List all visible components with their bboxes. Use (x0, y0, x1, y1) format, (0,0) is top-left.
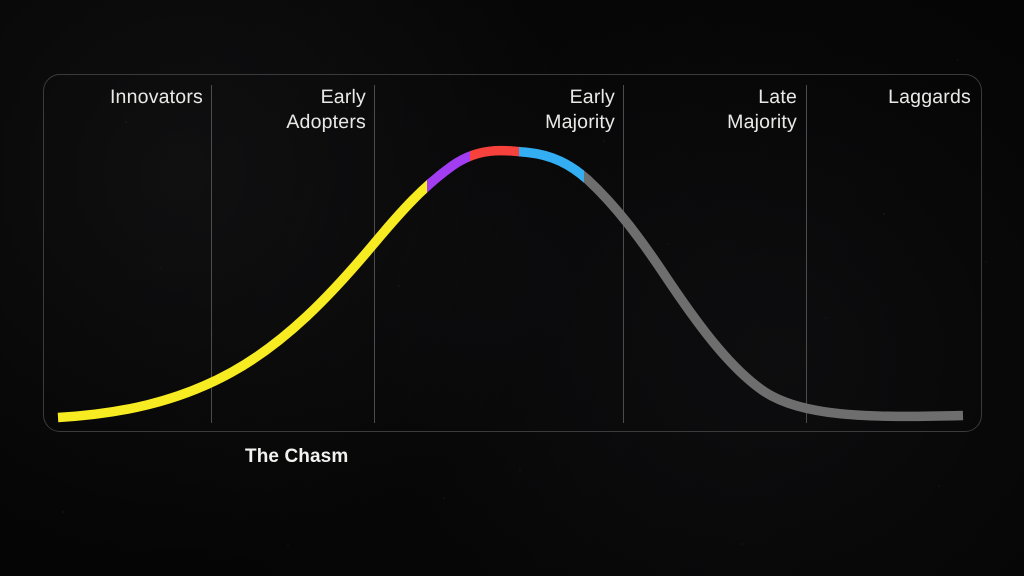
label-late-majority: Late Majority (727, 85, 797, 135)
divider-innovators (211, 85, 212, 423)
chasm-annotation: The Chasm (245, 446, 348, 468)
divider-late-majority (806, 85, 807, 423)
label-early-majority: Early Majority (545, 85, 615, 135)
chart-panel (43, 74, 982, 432)
slide-canvas: Innovators Early Adopters Early Majority… (0, 0, 1024, 576)
label-innovators: Innovators (110, 85, 203, 110)
label-early-adopters: Early Adopters (286, 85, 366, 135)
divider-early-adopters (374, 85, 375, 423)
divider-early-majority (623, 85, 624, 423)
label-laggards: Laggards (888, 85, 971, 110)
